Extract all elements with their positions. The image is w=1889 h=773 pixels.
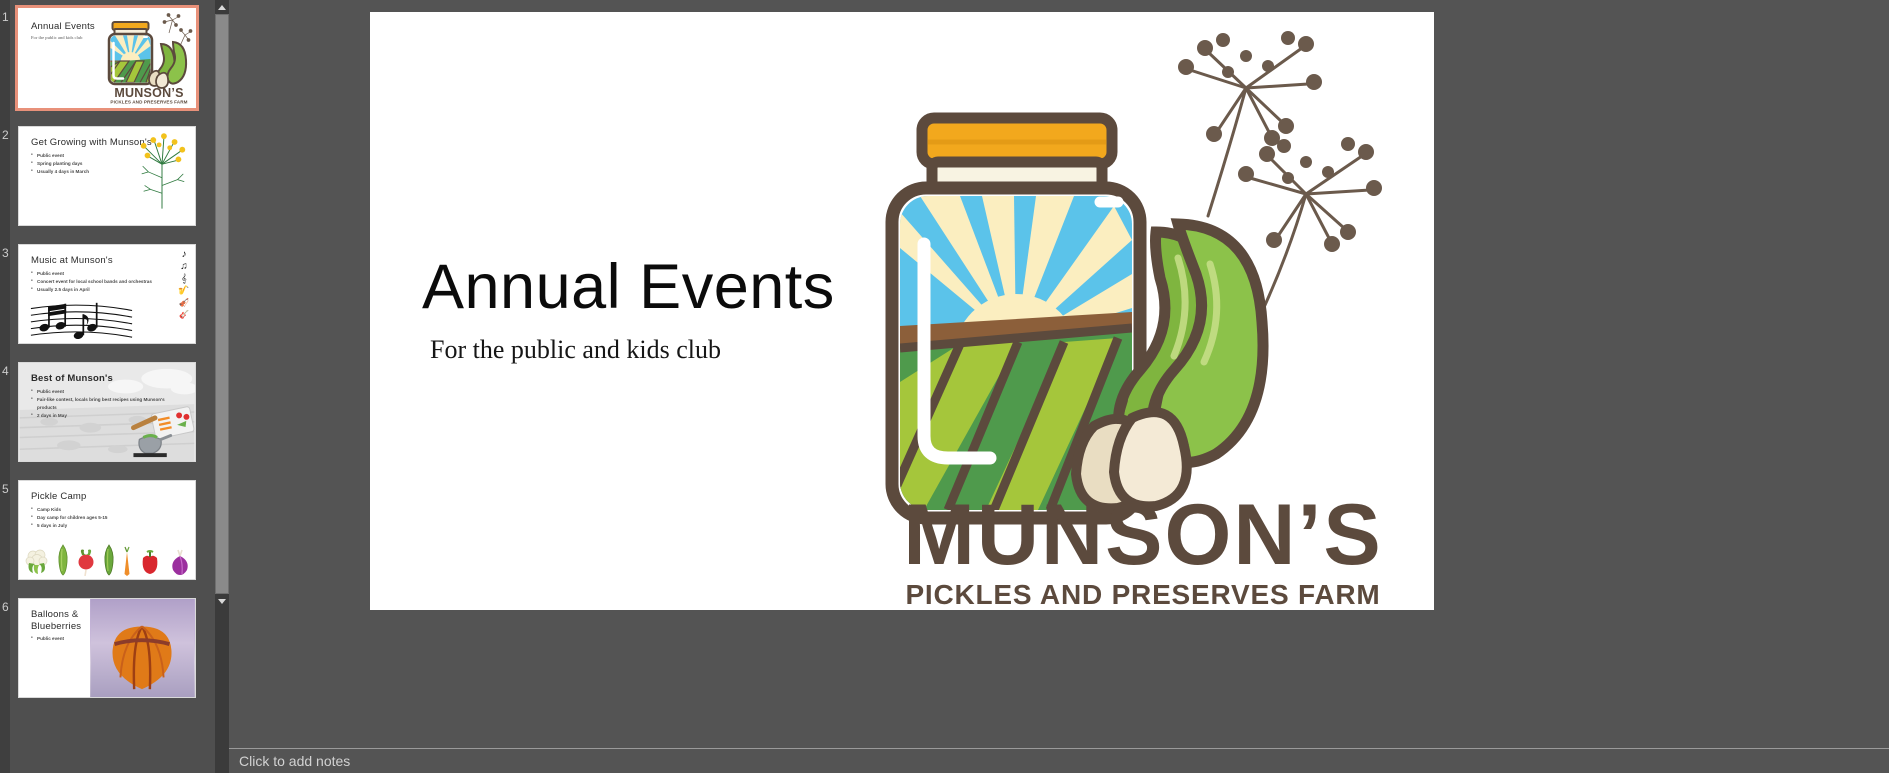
scroll-up-arrow-icon: [218, 5, 226, 10]
scrollbar-track-lower[interactable]: [215, 608, 229, 773]
radish-icon: [77, 546, 95, 576]
thumb-title-6: Balloons & Blueberries: [31, 609, 116, 633]
dill-flower-icon: [133, 131, 191, 209]
slide-thumb-canvas-5[interactable]: Pickle Camp Camp Kids Day camp for child…: [18, 480, 196, 580]
main-editor-area: Annual Events For the public and kids cl…: [229, 0, 1889, 773]
carrot-icon: [123, 546, 131, 576]
slide-number-5: 5: [0, 480, 18, 496]
slide-thumb-canvas-1[interactable]: Annual Events For the public and kids cl…: [18, 8, 196, 108]
vegetables-row: [25, 542, 191, 576]
slide-canvas-area[interactable]: Annual Events For the public and kids cl…: [229, 0, 1889, 748]
munsons-logo-graphic: MUNSON’S PICKLES AND PRESERVES FARM: [878, 26, 1408, 606]
thumb-title-3: Music at Munson's: [31, 255, 113, 266]
thumb-bullet: 2 days in May: [31, 412, 181, 420]
saxophone-icon: 🎷: [178, 285, 189, 296]
slide-number-6: 6: [0, 598, 18, 614]
slide-thumb-canvas-6[interactable]: Balloons & Blueberries Public event: [18, 598, 196, 698]
cauliflower-icon: [25, 546, 49, 576]
thumb-bullet: Public event: [31, 388, 181, 396]
slide-list: 1 Annual Events For the public and kids …: [0, 0, 214, 698]
treble-clef-icon: 𝄞: [181, 273, 186, 284]
thumb-bullet: 5 days in July: [31, 522, 181, 530]
slide-number-1: 1: [0, 8, 18, 24]
logo-brand-text: MUNSON’S: [903, 487, 1382, 583]
thumb-subtitle-1: For the public and kids club: [31, 35, 82, 40]
slide-thumbnail-5[interactable]: 5 Pickle Camp Camp Kids Day camp for chi…: [0, 480, 214, 580]
slide-number-2: 2: [0, 126, 18, 142]
thumb-bullet: Day camp for children ages 5-15: [31, 514, 181, 522]
thumb-bullet: Camp Kids: [31, 506, 181, 514]
slide-title-placeholder[interactable]: Annual Events: [422, 252, 835, 322]
beamed-notes-icon: ♫: [180, 261, 188, 272]
eighth-note-icon: ♪: [182, 249, 187, 260]
thumb-bullet: Concert event for local school bands and…: [31, 278, 181, 286]
scrollbar-thumb[interactable]: [215, 14, 229, 594]
logo-tagline-text: PICKLES AND PRESERVES FARM: [905, 579, 1380, 606]
notes-placeholder-text[interactable]: Click to add notes: [239, 753, 350, 769]
slide-thumbnail-4[interactable]: 4: [0, 362, 214, 462]
guitar-icon: 🎸: [179, 309, 189, 320]
zucchini-icon: [103, 544, 115, 576]
presentation-editor-window: 1 Annual Events For the public and kids …: [0, 0, 1889, 773]
slide-thumbnail-1[interactable]: 1 Annual Events For the public and kids …: [0, 8, 214, 108]
scroll-up-button[interactable]: [215, 0, 229, 14]
slide-panel-scrollbar[interactable]: [215, 0, 229, 773]
thumb-bullet: Public event: [31, 270, 181, 278]
violin-icon: 🎻: [179, 297, 189, 308]
slide-number-3: 3: [0, 244, 18, 260]
slide-thumbnail-panel[interactable]: 1 Annual Events For the public and kids …: [0, 0, 229, 773]
thumb-bullet: Public event: [31, 635, 113, 643]
bell-pepper-icon: [139, 548, 161, 576]
slide-number-4: 4: [0, 362, 18, 378]
slide-thumbnail-2[interactable]: 2 Get Growing with Munson's Public event…: [0, 126, 214, 226]
thumb-title-1: Annual Events: [31, 21, 95, 32]
slide-subtitle-placeholder[interactable]: For the public and kids club: [430, 334, 721, 366]
music-instrument-icons: ♪ ♫ 𝄞 🎷 🎻 🎸: [175, 249, 193, 320]
scroll-down-arrow-icon: [218, 599, 226, 604]
slide-thumbnail-3[interactable]: 3 Music at Munson's Public event Concert…: [0, 244, 214, 344]
thumb-title-4: Best of Munson's: [31, 373, 113, 384]
thumb-title-5: Pickle Camp: [31, 491, 87, 502]
onion-icon: [169, 548, 191, 576]
svg-text:PICKLES AND PRESERVES FARM: PICKLES AND PRESERVES FARM: [110, 100, 187, 105]
slide-thumb-canvas-2[interactable]: Get Growing with Munson's Public event S…: [18, 126, 196, 226]
scroll-down-button[interactable]: [215, 594, 229, 608]
svg-text:MUNSON’S: MUNSON’S: [114, 86, 183, 100]
slide-thumb-canvas-4[interactable]: Best of Munson's Public event Fair-like …: [18, 362, 196, 462]
slide-thumbnail-6[interactable]: 6: [0, 598, 214, 698]
current-slide[interactable]: Annual Events For the public and kids cl…: [370, 12, 1434, 610]
notes-pane[interactable]: Click to add notes: [229, 748, 1889, 773]
thumb-bullet: Fair-like contest, locals bring best rec…: [31, 396, 181, 412]
slide-thumb-canvas-3[interactable]: Music at Munson's Public event Concert e…: [18, 244, 196, 344]
thumb-bullet: Usually 2.5 days in April: [31, 286, 181, 294]
cucumber-icon: [57, 544, 69, 576]
munsons-logo-icon: MUNSON’S PICKLES AND PRESERVES FARM: [105, 13, 193, 105]
music-staff-icon: [29, 299, 134, 341]
